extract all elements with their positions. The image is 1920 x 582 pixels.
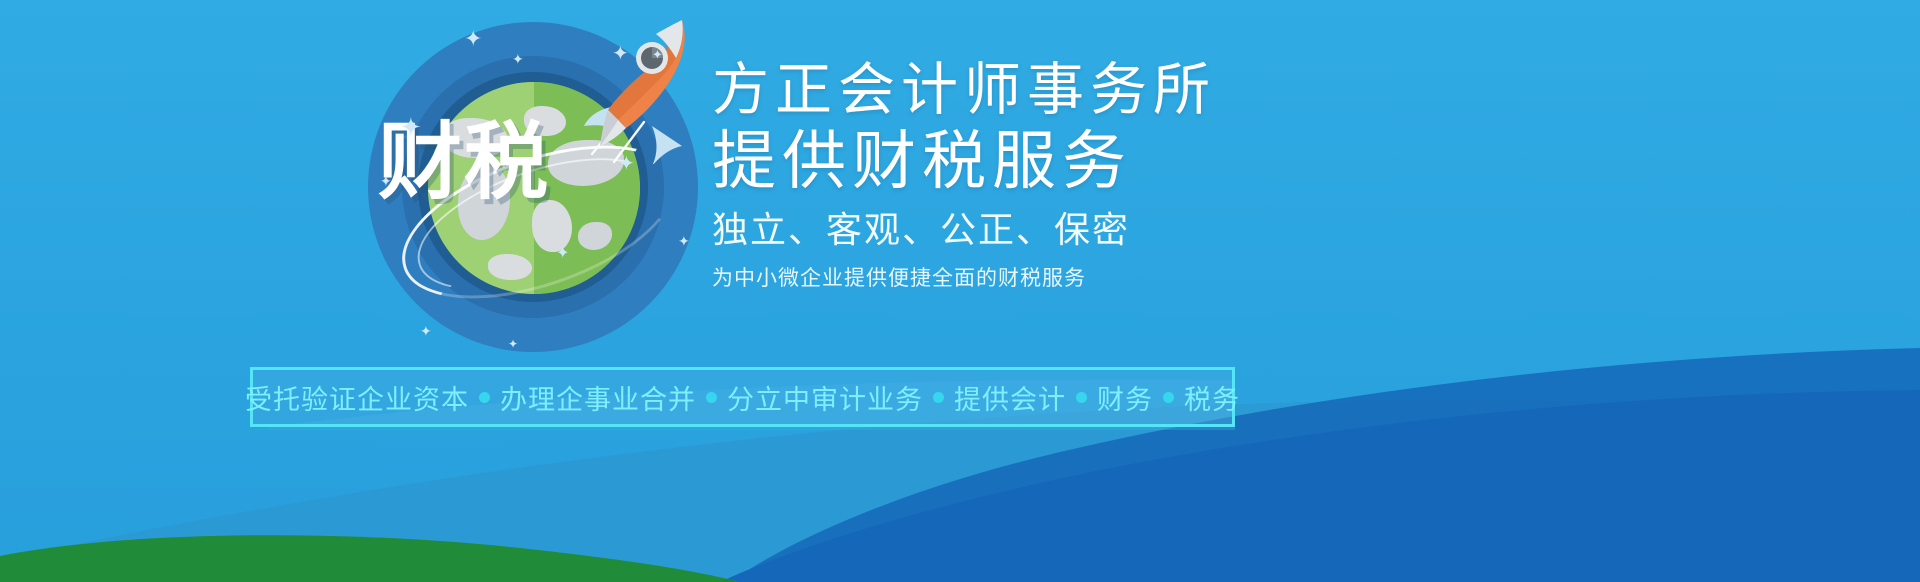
company-name-heading: 方正会计师事务所 xyxy=(712,60,1492,120)
service-item: 财务 xyxy=(1097,378,1153,417)
tagline-text: 为中小微企业提供便捷全面的财税服务 xyxy=(712,265,1492,292)
bullet-dot-icon xyxy=(1163,392,1174,403)
globe-rocket-illustration: 财税 ✦ xyxy=(360,8,720,368)
service-item: 提供会计 xyxy=(954,378,1066,417)
bullet-dot-icon xyxy=(933,392,944,403)
service-heading: 提供财税服务 xyxy=(712,128,1492,196)
services-strip: 受托验证企业资本 办理企事业合并 分立中审计业务 提供会计 财务 税务 xyxy=(250,367,1235,427)
bullet-dot-icon xyxy=(479,392,490,403)
service-item: 受托验证企业资本 xyxy=(245,378,469,417)
service-item: 税务 xyxy=(1184,378,1240,417)
promo-banner: 财税 ✦ xyxy=(0,0,1920,582)
service-item: 办理企事业合并 xyxy=(500,378,696,417)
bullet-dot-icon xyxy=(706,392,717,403)
values-subheading: 独立、客观、公正、保密 xyxy=(712,208,1492,251)
rocket-icon xyxy=(578,14,708,164)
bullet-dot-icon xyxy=(1076,392,1087,403)
service-item: 分立中审计业务 xyxy=(727,378,923,417)
headline-block: 方正会计师事务所 提供财税服务 独立、客观、公正、保密 为中小微企业提供便捷全面… xyxy=(712,60,1492,293)
services-list: 受托验证企业资本 办理企事业合并 分立中审计业务 提供会计 财务 税务 xyxy=(245,378,1240,417)
